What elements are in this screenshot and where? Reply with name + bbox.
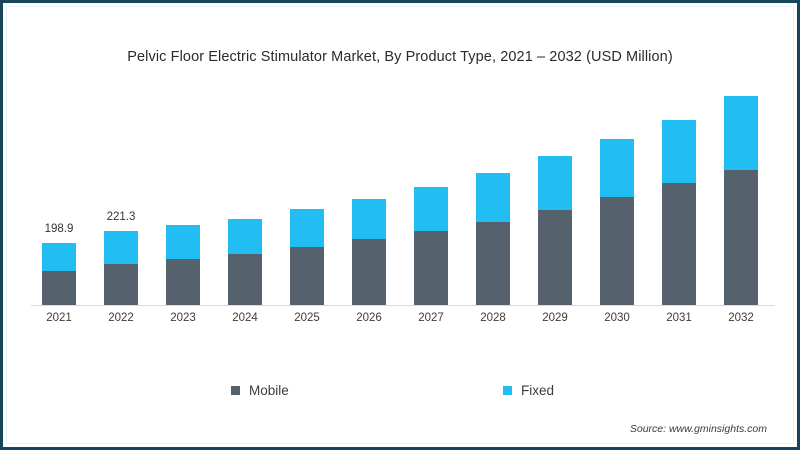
bar-2032[interactable]: [724, 96, 758, 305]
bar-segment-mobile-2032: [724, 170, 758, 305]
bar-2023[interactable]: [166, 225, 200, 305]
bar-segment-mobile-2027: [414, 231, 448, 305]
x-tick-2027: 2027: [401, 312, 461, 324]
bar-2030[interactable]: [600, 139, 634, 305]
x-tick-2024: 2024: [215, 312, 275, 324]
bar-2031[interactable]: [662, 120, 696, 305]
legend-swatch-fixed-icon: [503, 386, 512, 395]
legend-item-fixed[interactable]: Fixed: [503, 383, 554, 398]
bar-segment-mobile-2025: [290, 247, 324, 305]
x-tick-2028: 2028: [463, 312, 523, 324]
bar-2026[interactable]: [352, 199, 386, 305]
bar-segment-fixed-2021: [42, 243, 76, 271]
bar-segment-fixed-2022: [104, 231, 138, 264]
bar-segment-mobile-2031: [662, 183, 696, 305]
bar-segment-fixed-2030: [600, 139, 634, 197]
legend-label-fixed: Fixed: [521, 383, 554, 398]
bar-segment-mobile-2021: [42, 271, 76, 305]
bar-segment-fixed-2029: [538, 156, 572, 210]
bar-2021[interactable]: [42, 243, 76, 305]
legend-item-mobile[interactable]: Mobile: [231, 383, 289, 398]
bar-2022[interactable]: [104, 231, 138, 305]
x-tick-2023: 2023: [153, 312, 213, 324]
bar-value-label-2022: 221.3: [107, 211, 136, 223]
bar-segment-mobile-2024: [228, 254, 262, 305]
bar-segment-fixed-2027: [414, 187, 448, 231]
bar-value-label-2021: 198.9: [45, 223, 74, 235]
x-tick-2025: 2025: [277, 312, 337, 324]
bar-segment-fixed-2024: [228, 219, 262, 254]
bar-segment-mobile-2022: [104, 264, 138, 305]
bar-segment-fixed-2028: [476, 173, 510, 222]
bar-segment-fixed-2031: [662, 120, 696, 183]
x-tick-2026: 2026: [339, 312, 399, 324]
bar-segment-mobile-2026: [352, 239, 386, 305]
plot-area: 198.9221.3: [31, 88, 775, 306]
chart-title: Pelvic Floor Electric Stimulator Market,…: [3, 49, 797, 65]
x-tick-2029: 2029: [525, 312, 585, 324]
bar-2027[interactable]: [414, 187, 448, 305]
bar-segment-mobile-2028: [476, 222, 510, 305]
bar-segment-mobile-2023: [166, 259, 200, 305]
bar-segment-fixed-2025: [290, 209, 324, 247]
x-tick-2030: 2030: [587, 312, 647, 324]
source-note: Source: www.gminsights.com: [630, 423, 767, 435]
bar-segment-mobile-2029: [538, 210, 572, 305]
x-axis-line: [31, 305, 775, 306]
bar-segment-fixed-2032: [724, 96, 758, 170]
legend-label-mobile: Mobile: [249, 383, 289, 398]
bar-segment-fixed-2023: [166, 225, 200, 259]
x-tick-2032: 2032: [711, 312, 771, 324]
x-tick-2021: 2021: [29, 312, 89, 324]
chart-figure: Pelvic Floor Electric Stimulator Market,…: [0, 0, 800, 450]
x-tick-2031: 2031: [649, 312, 709, 324]
bar-2025[interactable]: [290, 209, 324, 305]
x-tick-2022: 2022: [91, 312, 151, 324]
chart-legend: Mobile Fixed: [3, 383, 797, 403]
bar-segment-mobile-2030: [600, 197, 634, 305]
bar-2029[interactable]: [538, 156, 572, 305]
bar-segment-fixed-2026: [352, 199, 386, 239]
bar-2028[interactable]: [476, 173, 510, 305]
bar-2024[interactable]: [228, 219, 262, 305]
x-axis-tick-labels: 2021202220232024202520262027202820292030…: [31, 312, 775, 332]
legend-swatch-mobile-icon: [231, 386, 240, 395]
